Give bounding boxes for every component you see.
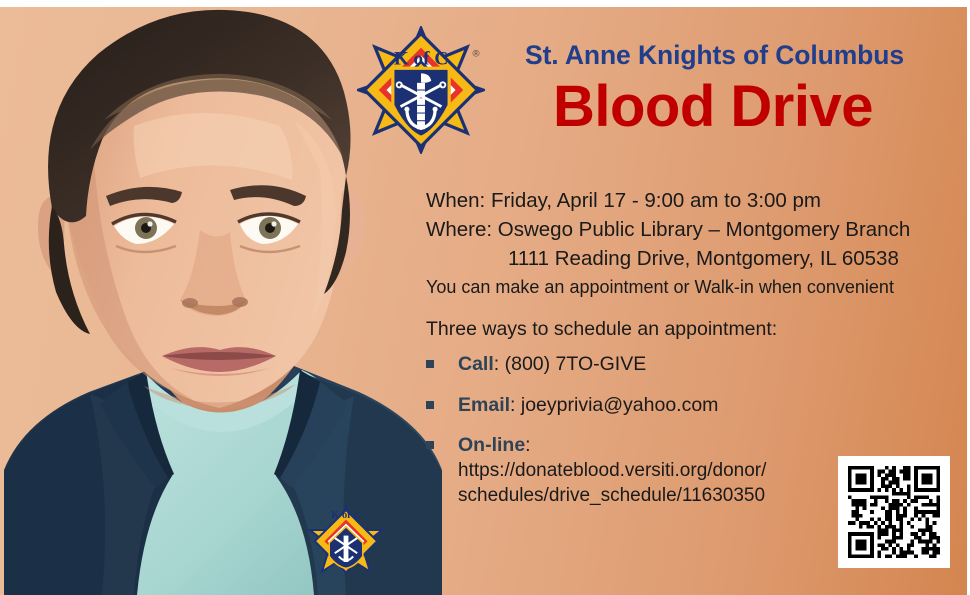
qr-code-panel[interactable] <box>838 456 950 568</box>
online-label: On-line <box>458 434 525 456</box>
knights-of-columbus-emblem: K of C ® <box>357 26 485 154</box>
bullet-square-icon <box>426 441 434 449</box>
when-line: When: Friday, April 17 - 9:00 am to 3:00… <box>426 186 910 215</box>
email-label: Email <box>458 394 510 416</box>
online-option: On-line:https://donateblood.versiti.org/… <box>458 433 766 508</box>
svg-text:K of C: K of C <box>331 510 360 521</box>
call-value[interactable]: (800) 7TO-GIVE <box>505 353 647 375</box>
call-label: Call <box>458 353 494 375</box>
top-white-edge <box>0 0 970 7</box>
qr-code[interactable] <box>848 466 940 558</box>
event-details: When: Friday, April 17 - 9:00 am to 3:00… <box>426 186 910 301</box>
event-title: Blood Drive <box>553 78 873 136</box>
call-option: Call: (800) 7TO-GIVE <box>458 352 646 378</box>
bullet-square-icon <box>426 401 434 409</box>
schedule-options-list: Call: (800) 7TO-GIVE Email: joeyprivia@y… <box>426 352 856 524</box>
registered-mark-icon: ® <box>473 49 480 60</box>
online-separator: : <box>525 434 530 456</box>
online-url-line-1[interactable]: https://donateblood.versiti.org/donor/ <box>458 459 766 484</box>
walkin-note: You can make an appointment or Walk-in w… <box>426 273 910 301</box>
email-value[interactable]: joeyprivia@yahoo.com <box>521 394 719 416</box>
call-separator: : <box>494 353 499 375</box>
list-item-email[interactable]: Email: joeyprivia@yahoo.com <box>426 393 856 419</box>
list-item-call[interactable]: Call: (800) 7TO-GIVE <box>426 352 856 378</box>
bullet-square-icon <box>426 360 434 368</box>
email-separator: : <box>510 394 515 416</box>
organization-title: St. Anne Knights of Columbus <box>525 40 904 71</box>
blood-drive-flyer: K of C <box>0 0 970 595</box>
online-url-line-2[interactable]: schedules/drive_schedule/11630350 <box>458 484 766 509</box>
where-line: Where: Oswego Public Library – Montgomer… <box>426 215 910 244</box>
list-item-online[interactable]: On-line:https://donateblood.versiti.org/… <box>426 433 856 508</box>
email-option: Email: joeyprivia@yahoo.com <box>458 393 718 419</box>
emblem-lettering: K of C <box>394 48 448 69</box>
address-line: 1111 Reading Drive, Montgomery, IL 60538 <box>426 244 910 273</box>
schedule-heading: Three ways to schedule an appointment: <box>426 318 777 341</box>
